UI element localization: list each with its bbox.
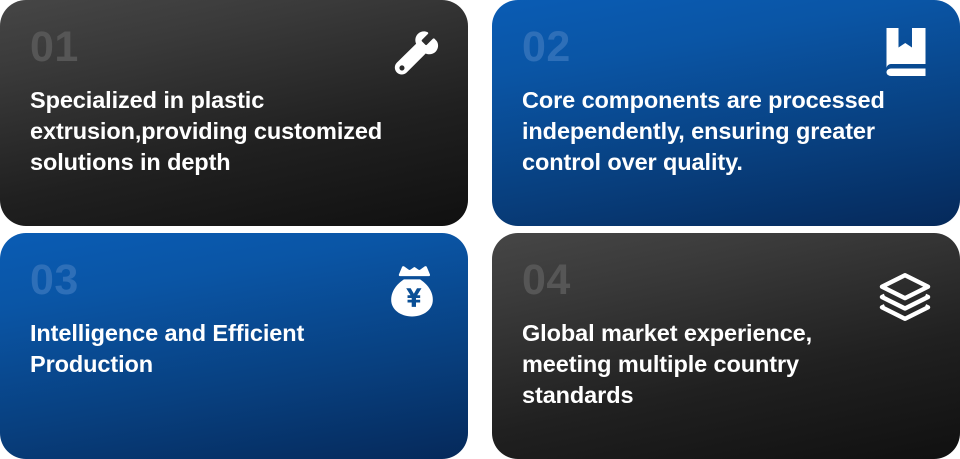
feature-card-01[interactable]: 01 Specialized in plastic extrusion,prov… bbox=[0, 0, 468, 226]
card-number-01: 01 bbox=[30, 26, 438, 69]
card-number-04: 04 bbox=[522, 259, 930, 302]
feature-card-grid: 01 Specialized in plastic extrusion,prov… bbox=[0, 0, 960, 459]
card-title-03: Intelligence and Efficient Production bbox=[30, 318, 438, 380]
card-number-03: 03 bbox=[30, 259, 438, 302]
card-title-01: Specialized in plastic extrusion,providi… bbox=[30, 85, 438, 178]
feature-card-02[interactable]: 02 Core components are processed indepen… bbox=[492, 0, 960, 226]
card-title-02: Core components are processed independen… bbox=[522, 85, 930, 178]
feature-card-03[interactable]: 03 Intelligence and Efficient Production bbox=[0, 233, 468, 459]
feature-card-04[interactable]: 04 Global market experience, meeting mul… bbox=[492, 233, 960, 459]
card-title-04: Global market experience, meeting multip… bbox=[522, 318, 930, 411]
card-number-02: 02 bbox=[522, 26, 930, 69]
